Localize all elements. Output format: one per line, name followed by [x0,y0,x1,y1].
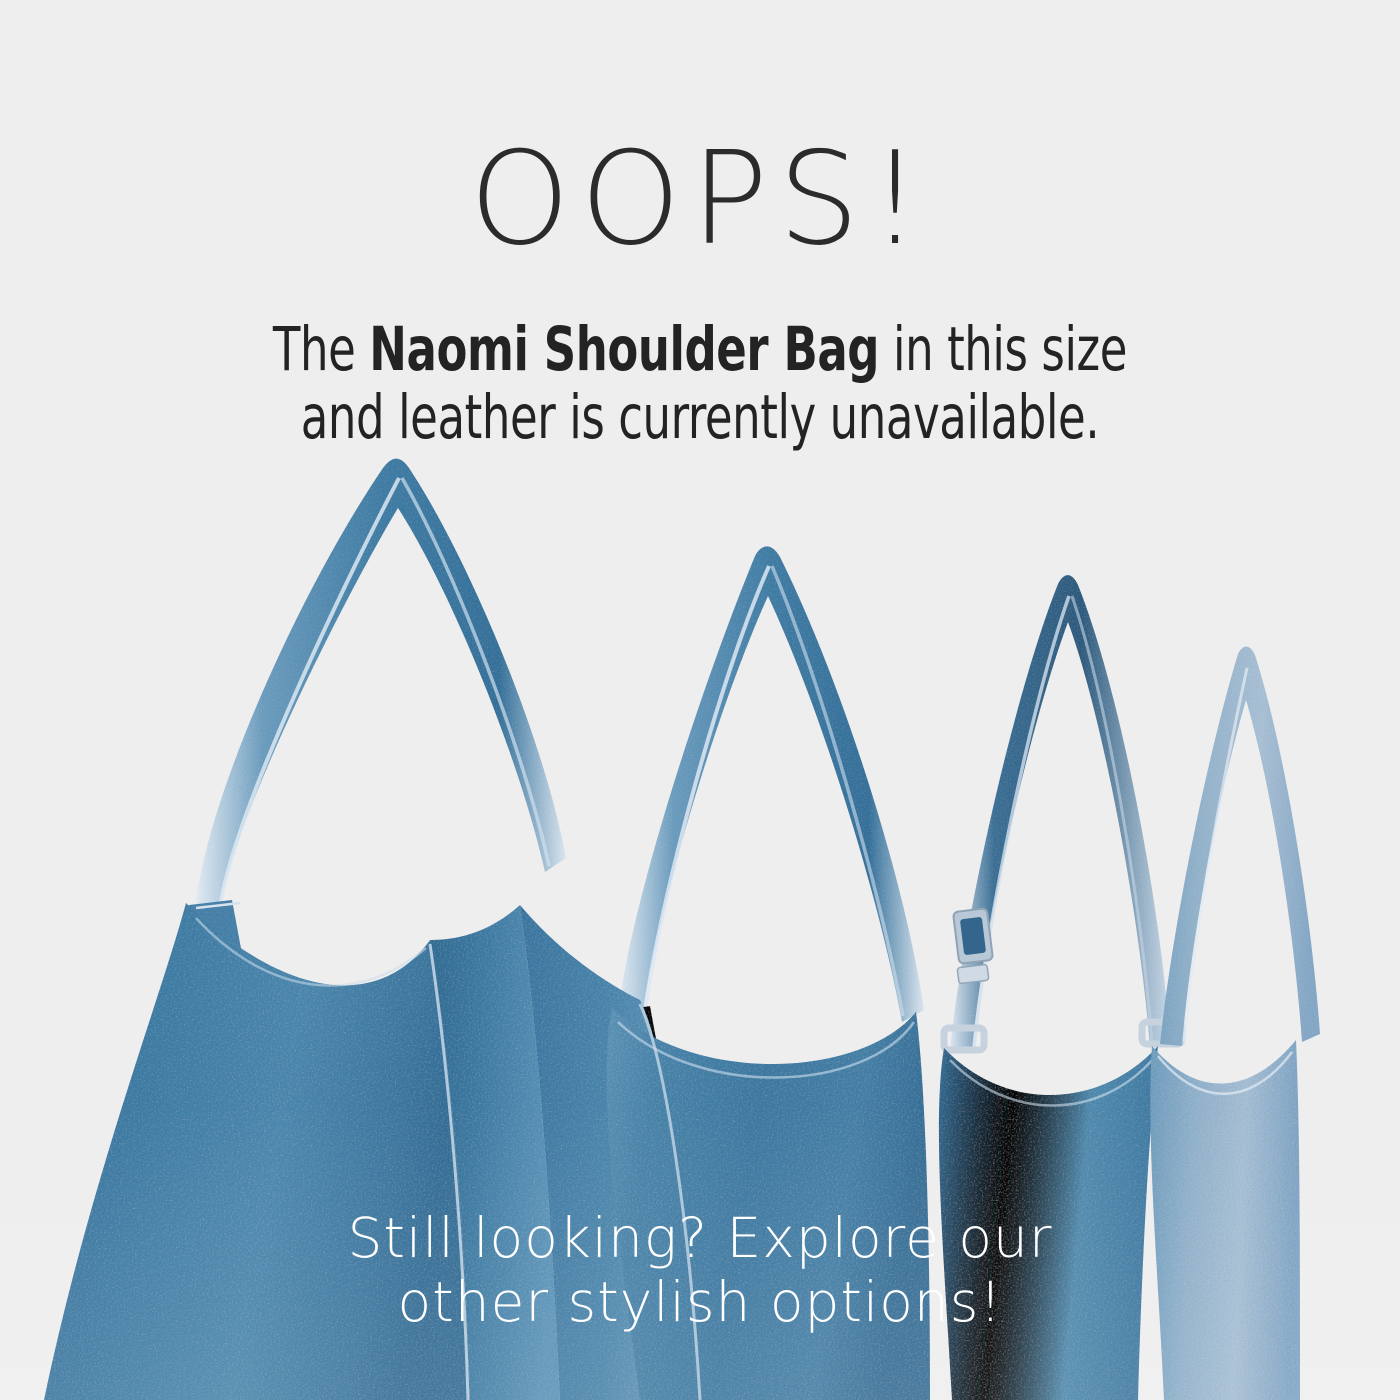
message-suffix: in this size [879,314,1127,385]
explore-prompt-line-1: Still looking? Explore our [0,1206,1400,1270]
message-prefix: The [273,314,369,385]
bag-1-strap [196,459,566,912]
error-page-canvas: OOPS! The Naomi Shoulder Bag in this siz… [0,0,1400,1400]
explore-prompt[interactable]: Still looking? Explore our other stylish… [0,1206,1400,1335]
unavailable-message-line-1: The Naomi Shoulder Bag in this size [126,316,1274,384]
bag-3-buckle [953,908,993,984]
page-title: OOPS! [0,133,1400,267]
unavailable-message: The Naomi Shoulder Bag in this size and … [126,316,1274,453]
explore-prompt-line-2: other stylish options! [0,1270,1400,1334]
unavailable-message-line-2: and leather is currently unavailable. [126,384,1274,452]
bag-2-strap [618,546,924,1022]
product-name: Naomi Shoulder Bag [369,314,879,385]
